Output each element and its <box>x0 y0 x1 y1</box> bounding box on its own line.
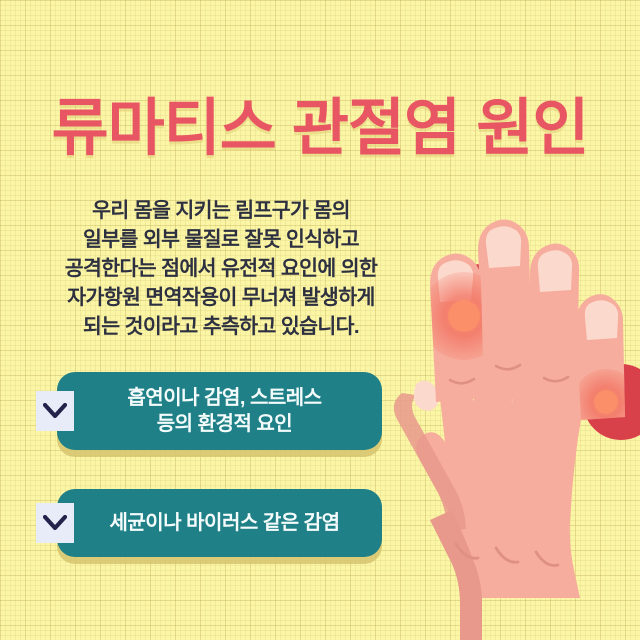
inflammation-blob-pinky <box>583 364 640 440</box>
nail-middle <box>486 226 521 268</box>
nail-pinky <box>585 300 618 340</box>
finger-middle <box>478 219 533 401</box>
palm-creases <box>456 544 558 565</box>
body-line: 일부를 외부 물질로 잘못 인식하고 <box>26 225 416 254</box>
inflammation-blob-index <box>432 264 532 364</box>
body-line: 공격한다는 점에서 유전적 요인에 의한 <box>26 254 416 283</box>
nail-index <box>438 260 473 302</box>
inflammation-glow-index <box>420 272 508 360</box>
page-title: 류마티스 관절염 원인 <box>0 98 640 160</box>
callout-box-environmental-factors[interactable]: 흡연이나 감염, 스트레스 등의 환경적 요인 <box>57 372 382 450</box>
callout-line: 세균이나 바이러스 같은 감염 <box>110 510 340 536</box>
wrist-shadow <box>430 510 482 640</box>
callout-line: 흡연이나 감염, 스트레스 <box>127 385 321 411</box>
knuckle-creases <box>450 365 568 383</box>
finger-index <box>430 253 484 402</box>
callout-text: 세균이나 바이러스 같은 감염 <box>70 510 370 536</box>
callout-line: 등의 환경적 요인 <box>127 411 321 437</box>
chevron-down-icon <box>36 391 74 431</box>
chevron-down-icon <box>36 503 74 543</box>
callout-box-infection[interactable]: 세균이나 바이러스 같은 감염 <box>57 489 382 557</box>
body-paragraph: 우리 몸을 지키는 림프구가 몸의 일부를 외부 물질로 잘못 인식하고 공격한… <box>26 196 416 342</box>
thumb-nail <box>414 381 439 411</box>
finger-pinky <box>576 294 625 420</box>
nail-ring <box>538 250 572 292</box>
finger-ring <box>530 243 579 418</box>
body-line: 자가항원 면역작용이 무너져 발생하게 <box>26 283 416 312</box>
thumb-shadow <box>394 393 466 531</box>
body-line: 되는 것이라고 추측하고 있습니다. <box>26 312 416 341</box>
body-line: 우리 몸을 지키는 림프구가 몸의 <box>26 196 416 225</box>
infographic-poster: 류마티스 관절염 원인 우리 몸을 지키는 림프구가 몸의 일부를 외부 물질로… <box>0 0 640 640</box>
palm-and-wrist <box>416 274 592 598</box>
inflammation-glow-pinky <box>573 369 639 435</box>
callout-text: 흡연이나 감염, 스트레스 등의 환경적 요인 <box>87 385 351 438</box>
